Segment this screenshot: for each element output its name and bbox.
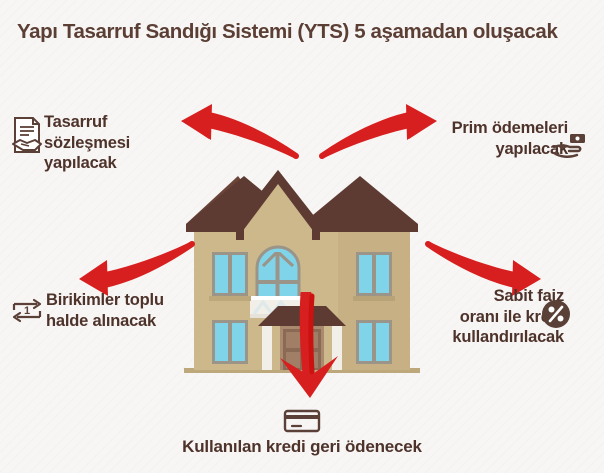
percent-badge-icon (541, 299, 571, 329)
credit-card-icon (283, 408, 321, 434)
step-fixed-rate-line-3: kullandırılacak (424, 327, 564, 348)
step-premium-line-1: Prim ödemeleri (408, 118, 568, 139)
step-contract-label: Tasarruf sözleşmesi yapılacak (44, 112, 184, 174)
svg-text:1: 1 (24, 305, 30, 317)
infographic-canvas: Yapı Tasarruf Sandığı Sistemi (YTS) 5 aş… (0, 0, 604, 473)
step-savings-label: Birikimler toplu halde alınacak (46, 290, 196, 331)
arrow-bottom-center (268, 292, 352, 400)
money-hand-icon (553, 133, 587, 159)
step-contract-line-3: yapılacak (44, 153, 184, 174)
page-title: Yapı Tasarruf Sandığı Sistemi (YTS) 5 aş… (17, 18, 597, 46)
step-savings-line-1: Birikimler toplu (46, 290, 196, 311)
step-contract-line-1: Tasarruf (44, 112, 184, 133)
exchange-arrows-1-icon: 1 (10, 296, 44, 324)
arrow-top-left (178, 82, 300, 160)
step-premium-label: Prim ödemeleri yapılacak (408, 118, 568, 159)
step-repayment-label: Kullanılan kredi geri ödenecek (152, 437, 452, 458)
step-repayment-line-1: Kullanılan kredi geri ödenecek (152, 437, 452, 458)
step-premium-line-2: yapılacak (408, 139, 568, 160)
contract-handshake-icon (11, 116, 43, 154)
step-savings-line-2: halde alınacak (46, 311, 196, 332)
step-contract-line-2: sözleşmesi (44, 133, 184, 154)
